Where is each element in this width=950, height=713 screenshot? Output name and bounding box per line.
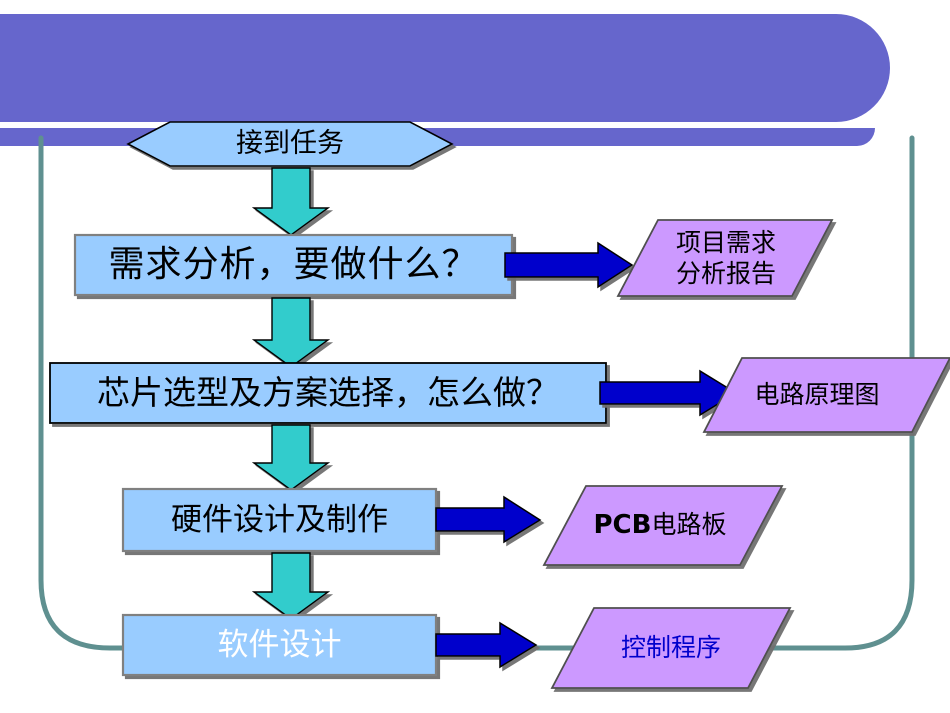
- process-3-label: 硬件设计及制作: [123, 489, 436, 551]
- document-3-label-bold: PCB: [594, 510, 652, 541]
- content-frame: [0, 0, 950, 713]
- process-2-label: 芯片选型及方案选择，怎么做？: [50, 363, 606, 423]
- document-3-label-rest: 电路板: [651, 510, 726, 540]
- document-4-label: 控制程序: [572, 612, 770, 684]
- start-label: 接到任务: [128, 122, 452, 166]
- process-4-label: 软件设计: [123, 615, 436, 675]
- slide-canvas: 接到任务 需求分析，要做什么？ 项目需求 分析报告 芯片选型及方案选择，怎么做？…: [0, 0, 950, 713]
- document-1-label: 项目需求 分析报告: [636, 222, 816, 294]
- process-1-label: 需求分析，要做什么？: [75, 235, 512, 295]
- document-3-label: PCB 电路板: [560, 490, 760, 560]
- document-2-label: 电路原理图: [718, 360, 916, 430]
